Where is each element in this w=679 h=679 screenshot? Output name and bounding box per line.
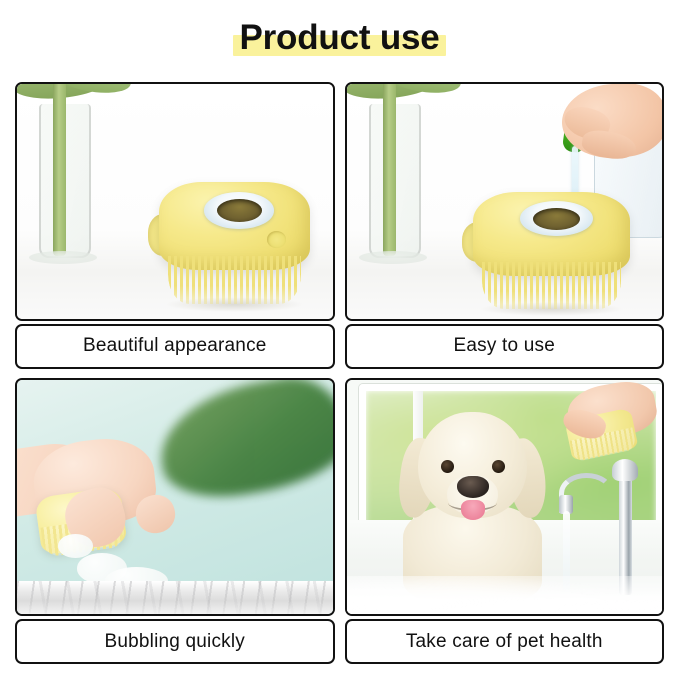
puppy-tongue	[461, 500, 485, 520]
caption-bar-4: Take care of pet health	[345, 619, 665, 664]
caption-label-3: Bubbling quickly	[104, 631, 245, 653]
soap-fill-opening	[217, 199, 262, 222]
panel-4-photo	[345, 378, 665, 617]
panel-easy-to-use: Easy to use	[345, 82, 665, 369]
soap-fill-opening	[533, 208, 580, 230]
faucet-handle	[612, 459, 638, 481]
caption-label-1: Beautiful appearance	[83, 335, 267, 357]
plant-stem	[53, 82, 66, 256]
glass-vase-with-stem	[353, 82, 431, 270]
bath-brush-product	[159, 182, 310, 304]
panel-3-photo	[15, 378, 335, 617]
vase-base	[359, 251, 427, 264]
vase-base	[29, 251, 97, 264]
brush-bristles	[482, 262, 621, 309]
scene-puppy-bath	[347, 380, 663, 615]
panel-grid: Beautiful appearance	[15, 82, 664, 664]
panel-take-care-of-pet-health: Take care of pet health	[345, 378, 665, 665]
brush-bristles	[168, 256, 301, 305]
plant-stem	[383, 82, 396, 256]
scene-filling-with-soap	[347, 84, 663, 319]
puppy-eye-right	[492, 460, 505, 473]
panel-1-photo	[15, 82, 335, 321]
panel-bubbling-quickly: Bubbling quickly	[15, 378, 335, 665]
puppy	[397, 412, 548, 595]
glass-vase-with-stem	[23, 82, 101, 270]
caption-label-4: Take care of pet health	[406, 631, 603, 653]
scene-foaming-brush	[17, 380, 333, 615]
title-label: Product use	[239, 18, 439, 57]
chrome-faucet	[561, 459, 643, 595]
product-use-infographic: Product use	[0, 0, 679, 679]
foam-blob-3	[58, 534, 93, 557]
puppy-eye-left	[441, 460, 454, 473]
caption-bar-1: Beautiful appearance	[15, 324, 335, 369]
panel-2-photo	[345, 82, 665, 321]
bathroom-background	[347, 380, 663, 615]
hand-pressing-pump	[540, 82, 664, 188]
caption-label-2: Easy to use	[454, 335, 555, 357]
soap-suds	[347, 576, 663, 614]
marble-countertop	[17, 581, 333, 614]
caption-bar-2: Easy to use	[345, 324, 665, 369]
caption-bar-3: Bubbling quickly	[15, 619, 335, 664]
hand-holding-brush	[548, 384, 655, 459]
bath-brush-product	[473, 192, 631, 309]
page-title: Product use	[0, 18, 679, 58]
panel-beautiful-appearance: Beautiful appearance	[15, 82, 335, 369]
scene-product-on-white	[17, 84, 333, 319]
title-text-block: Product use	[233, 18, 445, 58]
